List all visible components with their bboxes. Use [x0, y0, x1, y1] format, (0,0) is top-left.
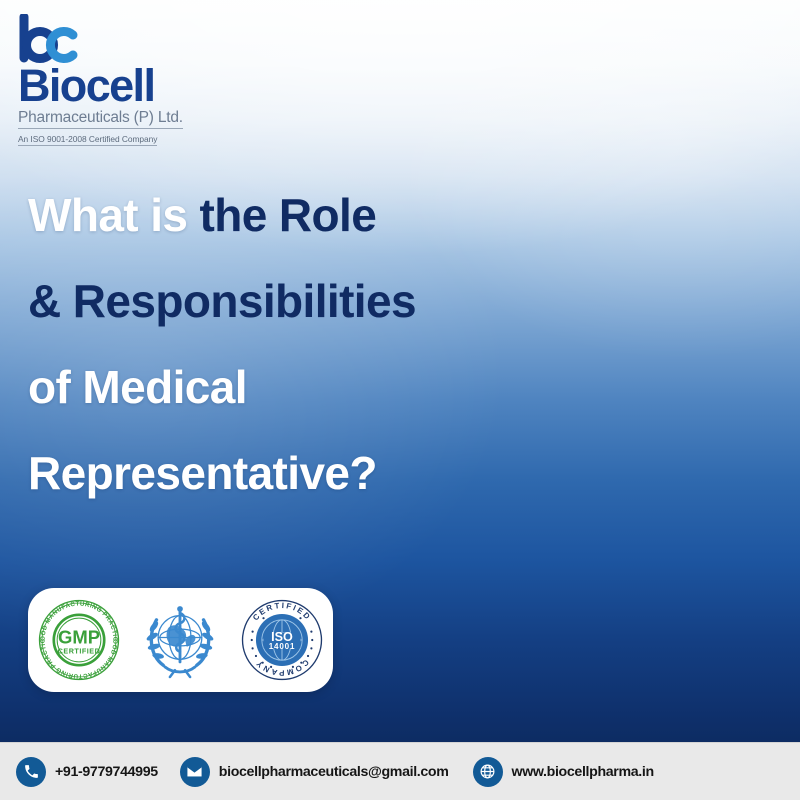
contact-footer: +91-9779744995 biocellpharmaceuticals@gm… — [0, 742, 800, 800]
svg-text:GMP: GMP — [58, 626, 100, 647]
phone-number: +91-9779744995 — [55, 764, 158, 780]
globe-icon — [473, 757, 503, 787]
promotional-banner: Biocell Pharmaceuticals (P) Ltd. An ISO … — [0, 0, 800, 800]
website-url: www.biocellpharma.in — [512, 764, 654, 780]
page-title: What is the Role & Responsibilities of M… — [28, 172, 498, 516]
certification-badges: GOOD MANUFACTURING PRACTICE GOOD MANUFAC… — [28, 588, 333, 692]
email-icon — [180, 757, 210, 787]
headline-line-2: & Responsibilities — [28, 258, 498, 344]
brand-name: Biocell — [18, 65, 228, 108]
phone-icon — [16, 757, 46, 787]
headline-line-3: of Medical — [28, 344, 498, 430]
footer-website[interactable]: www.biocellpharma.in — [473, 757, 654, 787]
footer-email[interactable]: biocellpharmaceuticals@gmail.com — [180, 757, 449, 787]
headline-line-1: What is the Role — [28, 172, 498, 258]
footer-phone[interactable]: +91-9779744995 — [16, 757, 158, 787]
svg-text:14001: 14001 — [269, 642, 296, 651]
brand-certification-line: An ISO 9001-2008 Certified Company — [18, 134, 157, 146]
headline-line-4: Representative? — [28, 430, 498, 516]
iso-14001-badge: ISO 14001 CERTIFIED COMPANY — [240, 598, 324, 682]
brand-logo: Biocell Pharmaceuticals (P) Ltd. An ISO … — [18, 14, 228, 147]
headline-line-1-navy: the Role — [200, 189, 377, 241]
email-address: biocellpharmaceuticals@gmail.com — [219, 764, 449, 780]
svg-text:CERTIFIED: CERTIFIED — [58, 646, 101, 655]
gmp-certified-badge: GOOD MANUFACTURING PRACTICE GOOD MANUFAC… — [37, 598, 121, 682]
who-emblem-badge — [138, 598, 222, 682]
headline-line-1-white: What is — [28, 189, 200, 241]
bc-monogram-icon — [18, 14, 80, 64]
brand-subtitle: Pharmaceuticals (P) Ltd. — [18, 109, 183, 129]
